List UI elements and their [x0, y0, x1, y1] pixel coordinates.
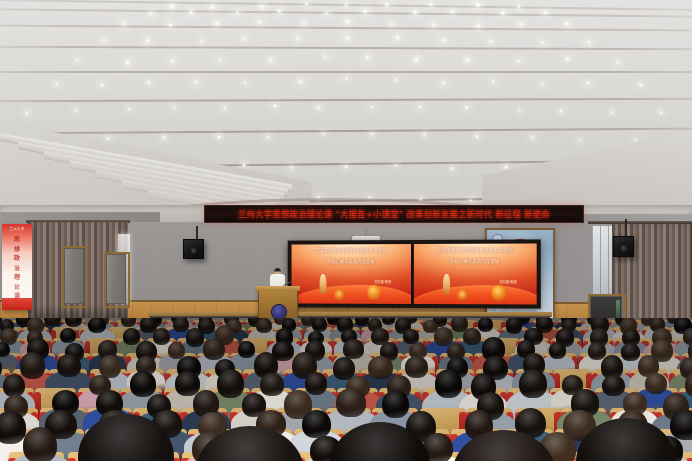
- ceiling-downlight: [418, 105, 422, 109]
- ceiling-downlight: [74, 109, 78, 112]
- audience-member-head: [670, 410, 692, 440]
- ceiling-downlight: [565, 57, 570, 61]
- ceiling-downlight: [257, 20, 263, 25]
- ceiling-downlight: [344, 3, 349, 7]
- speaker-rod-left: [196, 226, 198, 240]
- ceiling-downlight: [214, 21, 220, 26]
- ceiling-downlight: [659, 111, 663, 114]
- slide-presenter-credit: 刘先春 教授: [499, 279, 516, 284]
- ceiling-downlight: [394, 164, 398, 167]
- ceiling-downlight: [217, 135, 221, 139]
- ceiling-downlight: [147, 81, 151, 84]
- ceiling-downlight: [200, 39, 204, 43]
- audience-member-head: [123, 328, 140, 345]
- ceiling-downlight: [324, 12, 329, 16]
- ceiling-downlight: [365, 56, 370, 60]
- banner-character: 想: [2, 244, 32, 253]
- ceiling-downlight: [519, 22, 523, 26]
- ceiling-downlight: [586, 81, 591, 85]
- audience-member-head: [175, 371, 200, 396]
- ceiling-downlight: [475, 2, 481, 7]
- ceiling-downlight: [469, 199, 473, 202]
- ceiling-downlight: [243, 81, 247, 84]
- ceiling-seam: [0, 24, 692, 32]
- banner-top-label: 兰州大学: [2, 226, 32, 231]
- slide-presenter-credit: 刘先春 教授: [374, 279, 391, 284]
- slide-figure-graphic: [320, 274, 327, 294]
- ceiling-downlight: [25, 111, 30, 115]
- audience-member-head: [549, 342, 567, 360]
- ceiling-downlight: [169, 4, 175, 9]
- ceiling-downlight: [362, 8, 369, 13]
- auditorium-photo: 兰州大学 思想政治理论课 兰州大学思想政治理论课 “大报告+小课堂” 改革创新发…: [0, 0, 692, 461]
- slide-title-line1: 习近平新时代中国特色社会主义思想: [418, 249, 531, 255]
- ceiling-downlight: [504, 165, 508, 169]
- audience-member-head: [368, 356, 393, 379]
- audience-member-head: [463, 328, 481, 345]
- ceiling-downlight: [488, 39, 493, 43]
- audience-member-head: [435, 369, 463, 398]
- ceiling-downlight: [162, 136, 166, 139]
- projection-screen-right: 习近平新时代中国特色社会主义思想 的核心要义及其内在逻辑 刘先春 教授: [412, 243, 536, 304]
- ceiling-downlight: [564, 22, 570, 27]
- ceiling-downlight: [389, 23, 393, 27]
- ceiling-downlight: [273, 104, 278, 108]
- ceiling: [0, 0, 692, 232]
- speaker-rod-right: [625, 219, 627, 237]
- side-door-left[interactable]: [64, 248, 84, 304]
- slide-title-line1: 习近平新时代中国特色社会主义思想: [296, 249, 405, 255]
- audience-member-head: [382, 390, 409, 418]
- audience-member-head: [60, 328, 77, 344]
- ceiling-downlight: [414, 57, 419, 61]
- audience-member-head: [621, 343, 640, 361]
- ceiling-downlight: [242, 37, 247, 41]
- banner-character: 政: [2, 253, 32, 262]
- vertical-red-banner: 兰州大学 思想政治理论课: [2, 224, 32, 310]
- ceiling-downlight: [259, 4, 265, 9]
- audience-member-head: [685, 372, 692, 397]
- audience-member-head: [336, 388, 366, 417]
- slide-emblem-graphic-b: [457, 289, 468, 301]
- slide-title-line2: 的核心要义及其内在逻辑: [421, 259, 529, 264]
- audience-member-head: [403, 329, 419, 344]
- audience-member-head: [57, 354, 82, 377]
- ceiling-downlight: [395, 35, 400, 39]
- banner-character: 治: [2, 263, 32, 272]
- ceiling-downlight: [423, 133, 427, 136]
- slide-emblem-graphic-a: [492, 285, 507, 301]
- ceiling-downlight: [500, 11, 506, 16]
- seat-upholstery: [67, 458, 76, 461]
- ceiling-downlight: [106, 137, 110, 140]
- audience-member-head: [0, 411, 26, 444]
- audience-member-head: [343, 339, 365, 359]
- ceiling-downlight: [55, 83, 59, 86]
- ceiling-downlight: [323, 55, 328, 59]
- projection-screens: 习近平新时代中国特色社会主义思想 的核心要义及其内在逻辑 刘先春 教授 习近平新…: [288, 239, 541, 308]
- audience-member-head: [645, 373, 667, 394]
- ceiling-downlight: [475, 135, 479, 138]
- audience-seating-area: [0, 318, 692, 461]
- lectern-top-surface: [256, 286, 300, 291]
- ceiling-downlight: [266, 135, 271, 139]
- ceiling-hung-loudspeaker: [613, 236, 634, 257]
- slide-figure-graphic: [443, 274, 450, 294]
- audience-member-head: [203, 338, 225, 360]
- ceiling-downlight: [634, 138, 637, 141]
- slide-ribbon-front: [292, 285, 411, 304]
- ceiling-downlight: [145, 38, 150, 42]
- ceiling-downlight: [441, 81, 446, 85]
- ceiling-downlight: [541, 41, 545, 44]
- ceiling-downlight: [578, 139, 581, 142]
- ceiling-downlight: [121, 22, 126, 26]
- audience-member-head: [405, 356, 428, 378]
- ceiling-downlight: [302, 21, 307, 25]
- ceiling-downlight: [127, 108, 131, 111]
- slide-emblem-graphic-b: [334, 289, 345, 301]
- audience-member-head: [478, 318, 493, 332]
- ceiling-downlight: [451, 167, 454, 170]
- ceiling-seam: [0, 127, 692, 135]
- banner-character: 思: [2, 234, 32, 243]
- ceiling-downlight: [322, 132, 326, 135]
- ceiling-seam: [0, 97, 692, 102]
- ceiling-downlight: [394, 78, 398, 82]
- ceiling-downlight: [210, 5, 215, 9]
- audience-member-head: [20, 352, 45, 379]
- ceiling-downlight: [370, 132, 375, 136]
- slide-title-line2: 的核心要义及其内在逻辑: [299, 260, 404, 265]
- ceiling-downlight: [616, 61, 620, 64]
- ceiling-downlight: [170, 59, 175, 63]
- ceiling-downlight: [223, 107, 227, 110]
- ceiling-downlight: [100, 83, 105, 87]
- ceiling-downlight: [518, 109, 522, 112]
- ceiling-downlight: [304, 2, 309, 6]
- ceiling-downlight: [431, 23, 436, 27]
- ceiling-downlight: [235, 11, 240, 15]
- audience-member-head: [173, 318, 189, 332]
- ceiling-downlight: [541, 83, 545, 86]
- banner-character: 论: [2, 282, 32, 291]
- banner-footer-block: [2, 298, 32, 310]
- audience-member-head: [434, 327, 453, 346]
- audience-member-head: [312, 318, 327, 332]
- ceiling-downlight: [638, 83, 642, 87]
- audience-member-head: [217, 369, 244, 398]
- audience-member-head: [130, 371, 156, 397]
- ceiling-downlight: [441, 38, 446, 42]
- led-banner-text: 兰州大学思想政治理论课 “大报告+小课堂” 改革创新发展之新时代 新征程 新使命: [238, 207, 550, 220]
- ceiling-downlight: [531, 136, 535, 139]
- ceiling-downlight: [587, 41, 591, 45]
- banner-character: 理: [2, 272, 32, 281]
- ceiling-downlight: [125, 60, 130, 65]
- audience-member-head: [519, 369, 547, 398]
- ceiling-downlight: [517, 5, 522, 9]
- side-door-left-b[interactable]: [106, 254, 126, 304]
- audience-member-head: [186, 328, 204, 347]
- audience-member-head: [305, 372, 328, 396]
- ceiling-seam: [0, 45, 692, 50]
- ceiling-downlight: [465, 58, 470, 62]
- audience-member-head: [23, 427, 58, 461]
- ceiling-downlight: [316, 106, 320, 109]
- audience-member-head: [602, 375, 625, 397]
- ceiling-downlight: [194, 80, 198, 83]
- ceiling-downlight: [491, 80, 495, 83]
- ceiling-hung-loudspeaker: [183, 239, 204, 259]
- ceiling-downlight: [476, 24, 481, 28]
- ceiling-downlight: [464, 106, 469, 110]
- ceiling-downlight: [168, 23, 173, 27]
- audience-member-head: [260, 373, 285, 397]
- ceiling-downlight: [559, 109, 564, 113]
- ceiling-downlight: [370, 106, 374, 109]
- ceiling-downlight: [268, 58, 273, 62]
- ceiling-downlight: [188, 10, 194, 15]
- ceiling-downlight: [517, 59, 522, 63]
- ceiling-downlight: [172, 106, 176, 110]
- projection-screen-left: 习近平新时代中国特色社会主义思想 的核心要义及其内在逻辑 刘先春 教授: [292, 244, 411, 304]
- audience-member-head: [3, 374, 25, 397]
- ceiling-downlight: [218, 59, 222, 62]
- audience-member-head: [153, 328, 170, 345]
- audience-member-head: [302, 410, 331, 438]
- ceiling-downlight: [148, 11, 154, 16]
- slide-ribbon-front: [412, 285, 536, 305]
- ceiling-downlight: [298, 80, 303, 84]
- ceiling-downlight: [344, 165, 348, 168]
- ceiling-downlight: [75, 59, 79, 62]
- audience-member-head: [355, 318, 369, 326]
- audience-member-head: [238, 341, 255, 359]
- ceiling-downlight: [610, 111, 614, 114]
- ceiling-downlight: [345, 36, 350, 40]
- ceiling-downlight: [450, 9, 455, 14]
- ceiling-downlight: [242, 163, 246, 166]
- audience-member-head: [88, 318, 106, 333]
- ceiling-downlight: [102, 39, 106, 42]
- ceiling-downlight: [290, 166, 294, 169]
- ceiling-downlight: [295, 37, 300, 41]
- audience-member-head: [256, 318, 272, 333]
- ceiling-downlight: [345, 77, 349, 80]
- audience-member-head: [506, 318, 523, 334]
- led-banner: 兰州大学思想政治理论课 “大报告+小课堂” 改革创新发展之新时代 新征程 新使命: [204, 205, 584, 223]
- ceiling-downlight: [345, 19, 351, 24]
- ceiling-seam: [0, 71, 692, 73]
